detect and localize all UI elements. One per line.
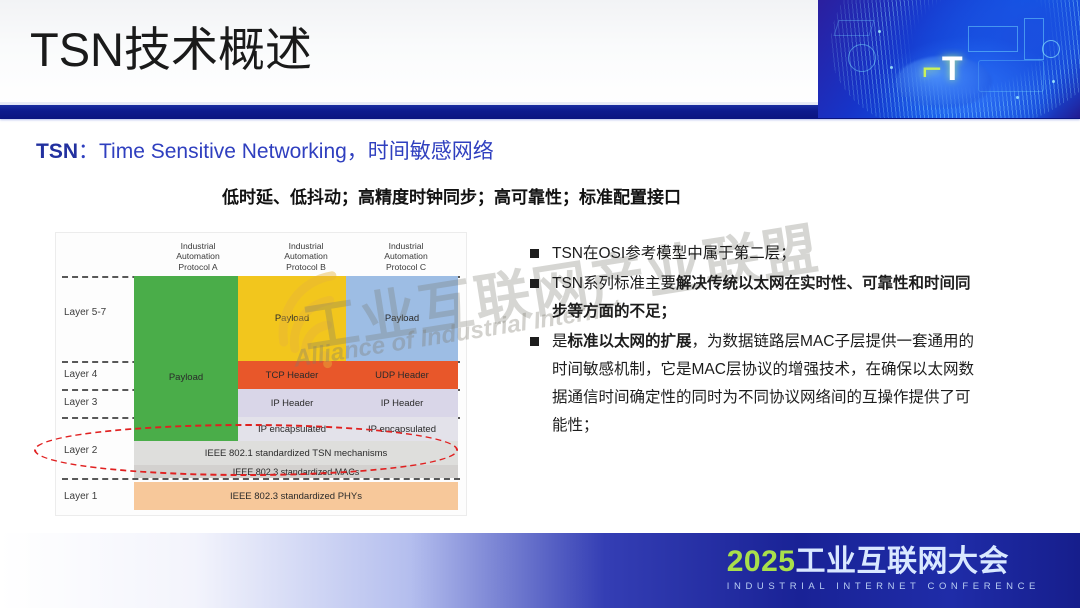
conference-year: 2025	[727, 545, 796, 578]
hud-dot-icon	[890, 66, 893, 69]
hud-dot-icon	[1052, 80, 1055, 83]
bullet-text: 是标准以太网的扩展，为数据链路层MAC子层提供一套通用的时间敏感机制，它是MAC…	[552, 328, 982, 440]
bullet-item: TSN系列标准主要解决传统以太网在实时性、可靠性和时间同步等方面的不足；	[530, 270, 982, 326]
tagline: 低时延、低抖动；高精度时钟同步；高可靠性；标准配置接口	[222, 186, 681, 210]
column-header-line: Automation	[356, 251, 456, 261]
bullet-text-run: TSN系列标准主要	[552, 275, 676, 292]
block-udp-header: UDP Header	[346, 361, 458, 389]
hud-shape-icon	[848, 44, 876, 72]
layer-label-2: Layer 2	[64, 445, 97, 456]
section-heading-rest: ：Time Sensitive Networking，时间敏感网络	[78, 140, 494, 163]
osi-tsn-layer-diagram: IndustrialAutomationProtocol A Industria…	[55, 232, 467, 516]
block-payload-b: Payload	[238, 276, 346, 361]
layer-divider	[62, 478, 460, 480]
diagram-column-header-a: IndustrialAutomationProtocol A	[148, 241, 248, 272]
bullet-square-icon	[530, 279, 539, 288]
slide-canvas: TSN技术概述 ⌐T TSN：Time Sensitive Networking…	[0, 0, 1080, 608]
hud-shape-icon	[833, 20, 874, 36]
hud-shape-icon	[1024, 18, 1044, 60]
column-header-line: Automation	[256, 251, 356, 261]
layer-label-5-7: Layer 5-7	[64, 307, 106, 318]
section-heading-tsn: TSN	[36, 140, 78, 163]
hud-shape-icon	[968, 26, 1018, 52]
footer-band: 2025工业互联网大会 INDUSTRIAL INTERNET CONFEREN…	[0, 533, 1080, 608]
column-header-line: Protocol B	[256, 262, 356, 272]
conference-name-cn: 工业互联网大会	[796, 545, 1010, 578]
layer-label-1: Layer 1	[64, 491, 97, 502]
hud-dot-icon	[878, 30, 881, 33]
bullet-text: TSN系列标准主要解决传统以太网在实时性、可靠性和时间同步等方面的不足；	[552, 270, 982, 326]
bullet-list: TSN在OSI参考模型中属于第二层；TSN系列标准主要解决传统以太网在实时性、可…	[530, 240, 982, 442]
layer-label-4: Layer 4	[64, 369, 97, 380]
bullet-text-emphasis: 标准以太网的扩展	[568, 333, 692, 350]
bullet-text: TSN在OSI参考模型中属于第二层；	[552, 240, 982, 268]
column-header-line: Automation	[148, 251, 248, 261]
block-ip-header-b: IP Header	[238, 389, 346, 417]
bullet-text-run: TSN在OSI参考模型中属于第二层；	[552, 245, 796, 262]
column-header-line: Protocol A	[148, 262, 248, 272]
diagram-column-header-c: IndustrialAutomationProtocol C	[356, 241, 456, 272]
layer-label-3: Layer 3	[64, 397, 97, 408]
bullet-item: TSN在OSI参考模型中属于第二层；	[530, 240, 982, 268]
conference-logo-line1: 2025工业互联网大会	[727, 545, 1040, 579]
block-ip-encapsulated-c: IP encapsulated	[346, 417, 458, 441]
column-header-line: Industrial	[148, 241, 248, 251]
bullet-text-run: 是	[552, 333, 568, 350]
column-header-line: Industrial	[356, 241, 456, 251]
tech-globe-art: ⌐T	[818, 0, 1080, 118]
bullet-item: 是标准以太网的扩展，为数据链路层MAC子层提供一套通用的时间敏感机制，它是MAC…	[530, 328, 982, 440]
column-header-line: Protocol C	[356, 262, 456, 272]
page-title: TSN技术概述	[30, 18, 312, 82]
conference-name-en: INDUSTRIAL INTERNET CONFERENCE	[727, 580, 1040, 594]
diagram-column-header-b: IndustrialAutomationProtocol B	[256, 241, 356, 272]
block-tcp-header: TCP Header	[238, 361, 346, 389]
block-macs: IEEE 802.3 standardized MACs	[134, 465, 458, 478]
block-phys: IEEE 802.3 standardized PHYs	[134, 482, 458, 510]
column-header-line: Industrial	[256, 241, 356, 251]
hud-dot-icon	[1016, 96, 1019, 99]
section-heading: TSN：Time Sensitive Networking，时间敏感网络	[36, 138, 494, 166]
hud-shape-icon	[1042, 40, 1060, 58]
block-payload-c: Payload	[346, 276, 458, 361]
bullet-square-icon	[530, 337, 539, 346]
block-ip-header-c: IP Header	[346, 389, 458, 417]
conference-logo: 2025工业互联网大会 INDUSTRIAL INTERNET CONFEREN…	[727, 545, 1040, 594]
bullet-square-icon	[530, 249, 539, 258]
block-ip-encapsulated-b: IP encapsulated	[238, 417, 346, 441]
block-tsn-mechanisms: IEEE 802.1 standardized TSN mechanisms	[134, 441, 458, 465]
conference-t-logo-icon: ⌐T	[922, 52, 968, 86]
